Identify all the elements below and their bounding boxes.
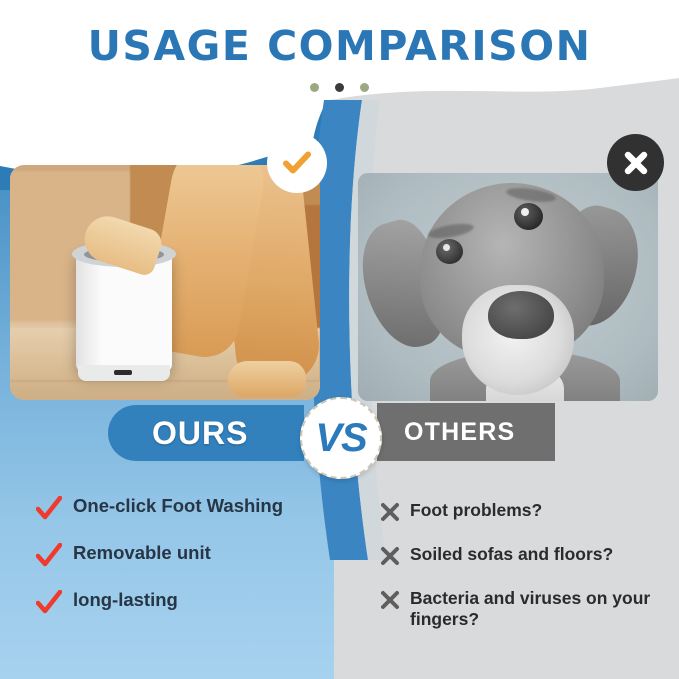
vs-label: VS <box>315 416 366 461</box>
white-x-icon <box>620 147 652 179</box>
others-x-badge <box>607 134 664 191</box>
puppy-right-eye <box>514 203 543 230</box>
usage-comparison-infographic: USAGE COMPARISON <box>0 0 679 679</box>
list-item: Soiled sofas and floors? <box>380 544 660 566</box>
list-item: Foot problems? <box>380 500 660 522</box>
pros-list: One-click Foot Washing Removable unit lo… <box>36 495 336 636</box>
list-item: One-click Foot Washing <box>36 495 336 520</box>
dog-standing-paw <box>228 361 306 397</box>
dot-3-icon <box>360 83 369 92</box>
paw-washer-button <box>114 370 132 375</box>
list-item: long-lasting <box>36 589 336 614</box>
puppy-nose <box>488 291 554 339</box>
pro-text: long-lasting <box>73 589 178 611</box>
ours-label: OURS <box>152 415 248 452</box>
puppy-left-eye <box>436 239 463 264</box>
ours-check-badge <box>267 133 327 193</box>
list-item: Removable unit <box>36 542 336 567</box>
gray-x-icon <box>380 502 400 522</box>
gray-x-icon <box>380 590 400 610</box>
vs-badge: VS <box>300 397 382 479</box>
ours-photo <box>10 165 320 400</box>
puppy-left-eye-glint <box>443 244 450 251</box>
cons-list: Foot problems? Soiled sofas and floors? … <box>380 500 660 652</box>
gray-x-icon <box>380 546 400 566</box>
con-text: Foot problems? <box>410 500 542 521</box>
dot-1-icon <box>310 83 319 92</box>
red-check-icon <box>36 496 62 520</box>
pro-text: One-click Foot Washing <box>73 495 283 517</box>
page-title: USAGE COMPARISON <box>0 22 679 70</box>
others-photo <box>358 173 658 401</box>
list-item: Bacteria and viruses on your fingers? <box>380 588 660 630</box>
dot-2-icon <box>335 83 344 92</box>
others-label: OTHERS <box>404 418 515 447</box>
pro-text: Removable unit <box>73 542 211 564</box>
con-text: Bacteria and viruses on your fingers? <box>410 588 660 630</box>
ours-banner: OURS <box>108 405 304 461</box>
red-check-icon <box>36 543 62 567</box>
red-check-icon <box>36 590 62 614</box>
puppy-right-eye-glint <box>521 208 529 216</box>
paw-washer-shading <box>76 251 102 373</box>
con-text: Soiled sofas and floors? <box>410 544 613 565</box>
others-banner: OTHERS <box>377 403 555 461</box>
title-dot-divider <box>0 79 679 97</box>
orange-check-icon <box>279 145 315 181</box>
